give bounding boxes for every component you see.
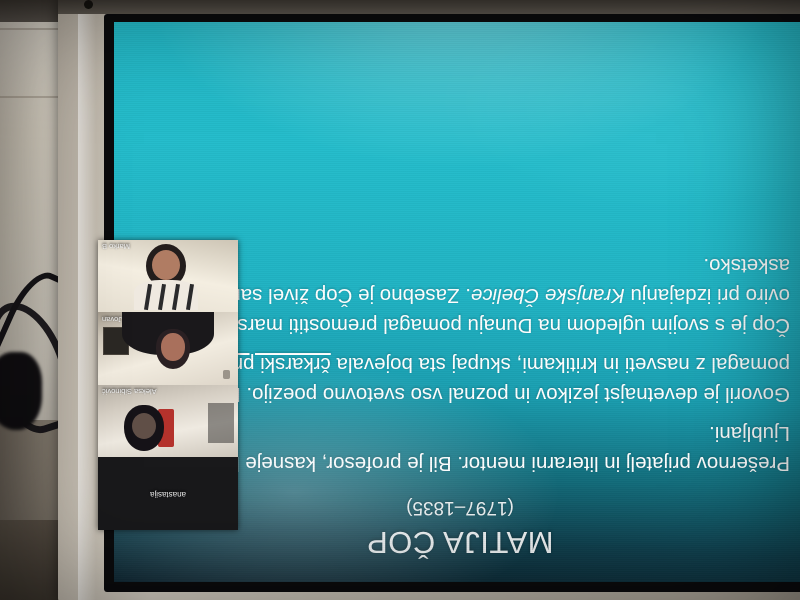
participant-tile[interactable]: anastasija (98, 458, 238, 531)
participant-name-label: Marko B (102, 243, 130, 251)
monitor-bezel-highlight (78, 0, 96, 600)
monitor-top-edge (58, 0, 800, 14)
avatar-face (161, 333, 185, 361)
background-lamp-icon (223, 370, 230, 379)
participant-tile[interactable]: Jovan (98, 313, 238, 386)
video-call-participant-strip[interactable]: anastasija Aleksa Sibinović Jovan (98, 240, 238, 530)
photograph-of-monitor: MATIJA ČOP (1797–1835) Prešernov prijate… (0, 0, 800, 600)
participant-tile[interactable]: Aleksa Sibinović (98, 385, 238, 458)
webcam-lens-icon (84, 0, 93, 9)
participant-name-label: Aleksa Sibinović (102, 388, 157, 396)
background-window-icon (208, 404, 234, 444)
participant-tile[interactable]: Marko B (98, 240, 238, 313)
slide-work-title: Kranjske Čbelice (471, 284, 625, 307)
participant-name-label: Jovan (102, 316, 122, 324)
participant-name-label: anastasija (150, 490, 186, 498)
